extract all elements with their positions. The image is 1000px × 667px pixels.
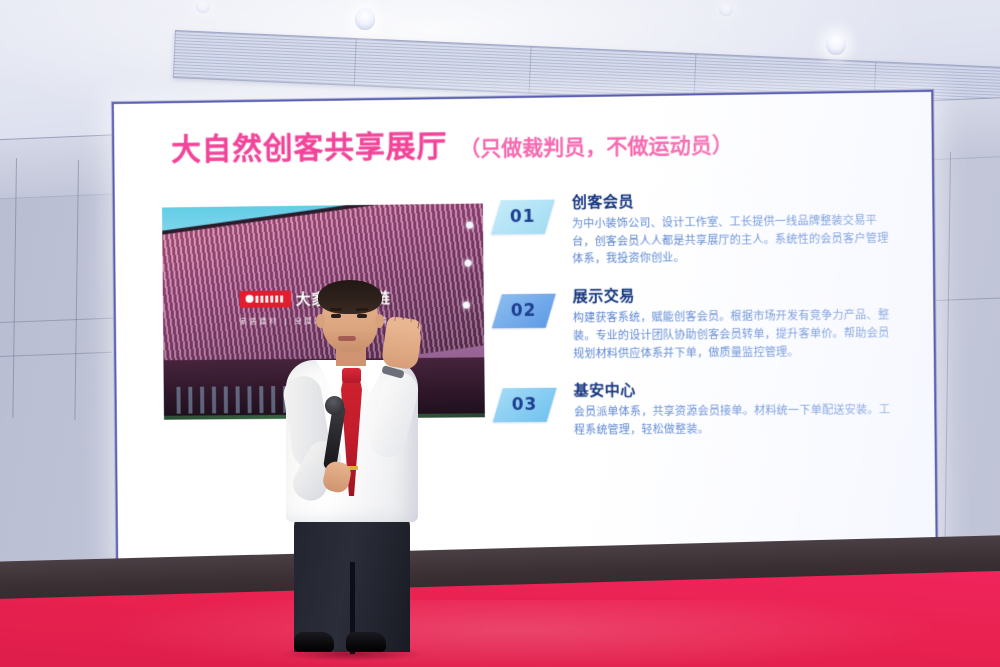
conference-room: 大自然创客共享展厅 （只做裁判员，不做运动员） 大家居供应链 家居建材 | 全屋…	[0, 0, 1000, 667]
projection-screen[interactable]: 大自然创客共享展厅 （只做裁判员，不做运动员） 大家居供应链 家居建材 | 全屋…	[112, 90, 938, 568]
item-body: 构建获客系统，赋能创客会员。根据市场开发有竞争力产品、整装。专业的设计团队协助创…	[573, 306, 900, 363]
presenter-hair	[318, 280, 382, 314]
list-item: 01 创客会员 为中小装饰公司、设计工作室、工长提供一线品牌整装交易平台，创客会…	[496, 189, 900, 269]
presenter-figure	[258, 276, 448, 656]
item-number: 03	[512, 395, 538, 415]
slide: 大自然创客共享展厅 （只做裁判员，不做运动员） 大家居供应链 家居建材 | 全屋…	[114, 92, 936, 566]
item-number-badge: 03	[493, 388, 557, 423]
ceiling-spotlight	[196, 0, 210, 13]
photo-facade-light	[464, 260, 471, 267]
item-title: 展示交易	[573, 284, 900, 306]
slide-subtitle: （只做裁判员，不做运动员）	[459, 129, 733, 165]
item-body: 为中小装饰公司、设计工作室、工长提供一线品牌整装交易平台，创客会员人人都是共享展…	[572, 211, 899, 268]
presenter-eyebrow	[330, 308, 342, 311]
item-body: 会员派单体系，共享资源会员接单。材料统一下单配送安装。工程系统管理，轻松做整装。	[574, 401, 901, 439]
item-number: 02	[511, 301, 537, 321]
ceiling-spotlight	[719, 3, 733, 16]
presenter-shoe	[346, 632, 386, 652]
item-title: 基安中心	[574, 379, 901, 401]
list-item: 02 展示交易 构建获客系统，赋能创客会员。根据市场开发有竞争力产品、整装。专业…	[497, 284, 901, 363]
ceiling-spotlight	[355, 8, 375, 30]
presenter-ear	[375, 314, 384, 328]
presenter-mouth	[338, 336, 356, 341]
list-item: 03 基安中心 会员派单体系，共享资源会员接单。材料统一下单配送安装。工程系统管…	[498, 379, 901, 440]
slide-items-list: 01 创客会员 为中小装饰公司、设计工作室、工长提供一线品牌整装交易平台，创客会…	[496, 189, 901, 459]
presenter-ear	[316, 314, 325, 328]
item-number-badge: 01	[491, 200, 555, 235]
presenter-eye	[357, 314, 367, 318]
photo-facade-light	[466, 222, 473, 229]
slide-title-row: 大自然创客共享展厅 （只做裁判员，不做运动员）	[171, 117, 733, 169]
presenter-eyebrow	[356, 308, 368, 311]
presenter-raised-hand	[381, 318, 423, 371]
slide-title: 大自然创客共享展厅	[171, 121, 448, 169]
item-title: 创客会员	[572, 189, 899, 212]
ceiling-spotlight	[826, 33, 846, 55]
presenter-eye	[331, 314, 341, 318]
item-number-badge: 02	[492, 294, 556, 329]
presenter-tie-knot	[342, 368, 361, 383]
photo-facade-light	[463, 302, 470, 309]
item-number: 01	[510, 207, 536, 227]
presenter-shoe	[294, 632, 334, 652]
